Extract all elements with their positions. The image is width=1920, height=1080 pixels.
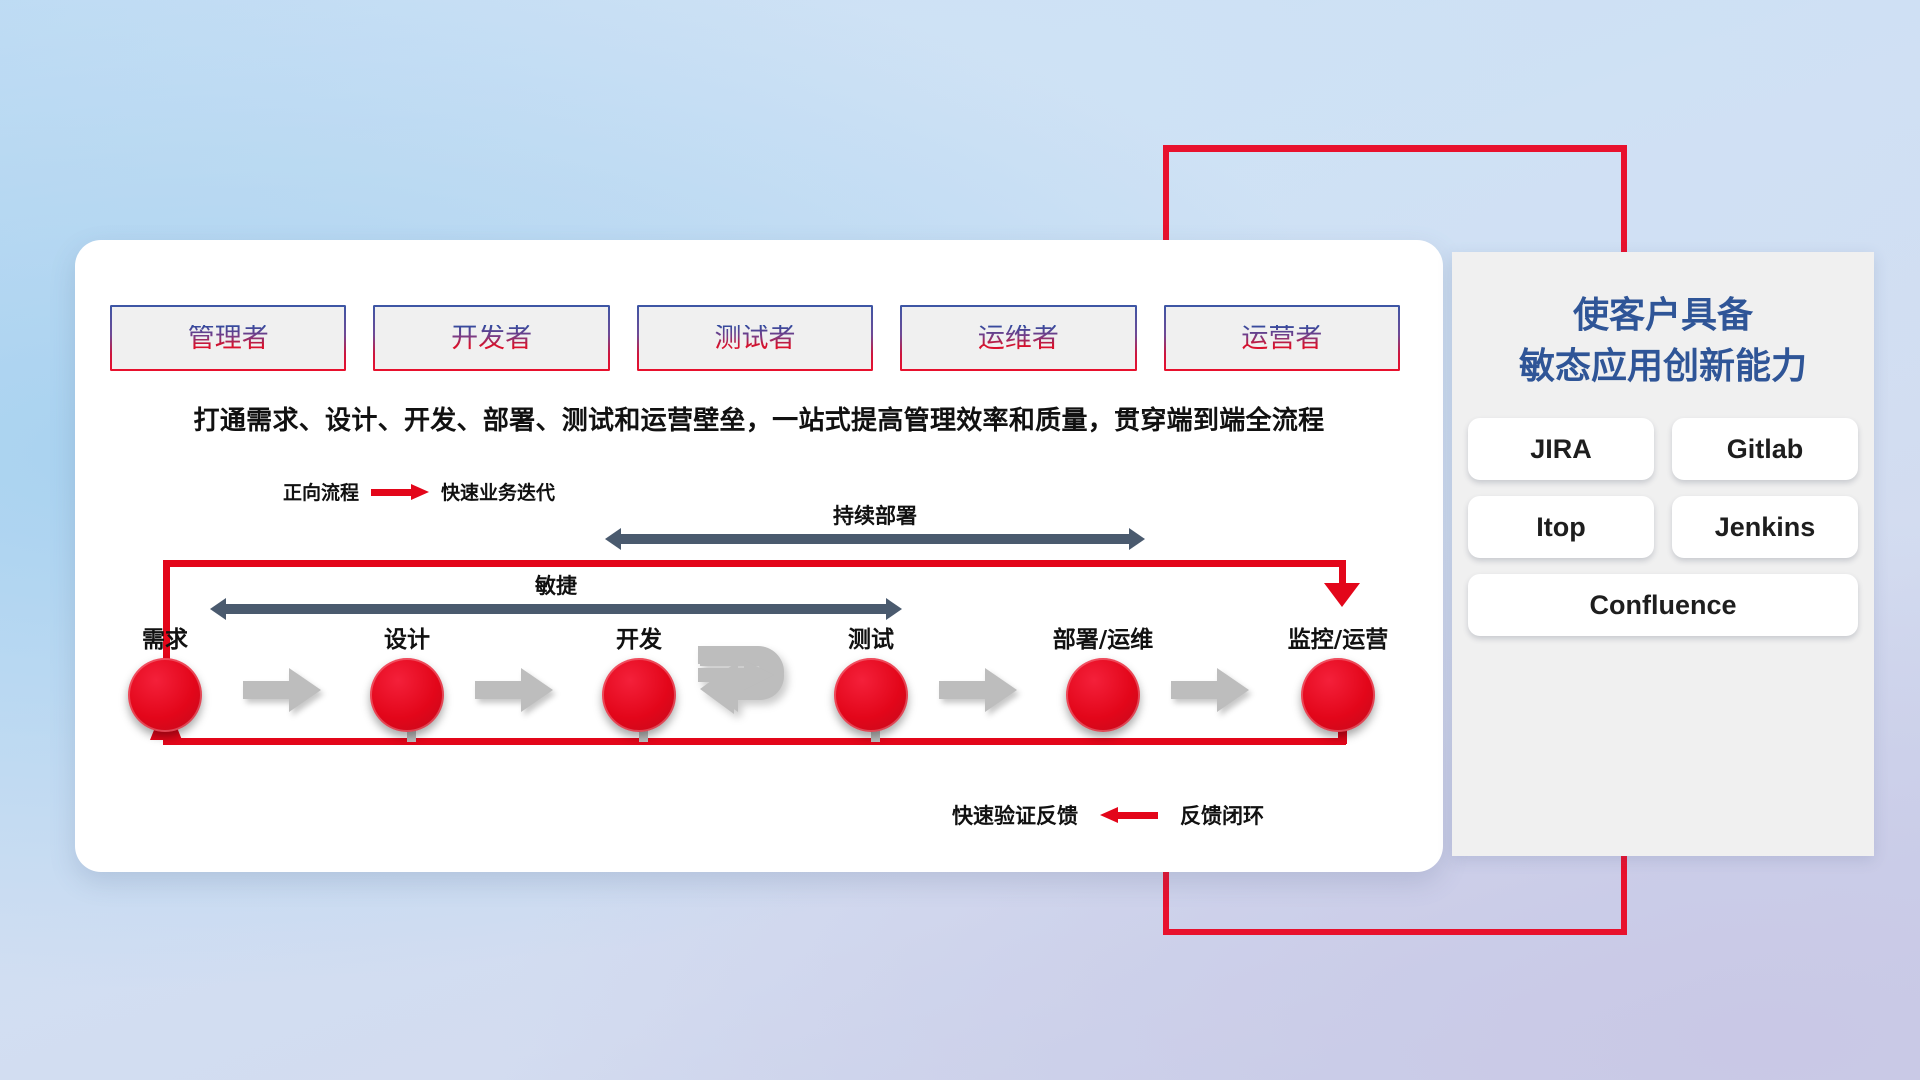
pipeline-stage-label: 设计 [352,620,462,654]
pipeline-stage-5[interactable]: 监控/运营 [1283,620,1393,732]
pipeline-stage-1[interactable]: 设计 [352,620,462,732]
role-label: 运维者 [978,325,1059,352]
pipeline-stage-label: 监控/运营 [1283,620,1393,654]
role-label: 测试者 [715,325,796,352]
arrow-right-gray-icon [1171,668,1249,712]
arrow-right-gray-icon [243,668,321,712]
agile-arrow [210,598,902,620]
pipeline-stage-2[interactable]: 开发 [584,620,694,732]
pipeline-stage-0[interactable]: 需求 [110,620,220,732]
role-box-4[interactable]: 运营者 [1164,305,1400,371]
pipeline-stage-3[interactable]: 测试 [816,620,926,732]
pipeline-stage-dot [1301,658,1375,732]
tool-tag-itop[interactable]: Itop [1468,496,1654,558]
panel-title-line2: 敏态应用创新能力 [1466,341,1860,392]
forward-flow-legend: 正向流程 快速业务迭代 [283,478,555,505]
red-loop-arrow-down-icon [1324,583,1360,607]
panel-title: 使客户具备 敏态应用创新能力 [1452,252,1874,392]
role-label: 运营者 [1241,325,1322,352]
role-box-0[interactable]: 管理者 [110,305,346,371]
pipeline-stage-label: 部署/运维 [1048,620,1158,654]
continuous-deployment-arrow [605,528,1145,550]
role-box-3[interactable]: 运维者 [900,305,1136,371]
continuous-deployment-label: 持续部署 [605,500,1145,530]
feedback-loop-legend: 快速验证反馈 反馈闭环 [952,800,1264,830]
role-box-row: 管理者 开发者 测试者 运维者 运营者 [110,305,1400,371]
tool-tag-jenkins[interactable]: Jenkins [1672,496,1858,558]
outcome-panel: 使客户具备 敏态应用创新能力 JIRA Gitlab Itop Jenkins … [1452,252,1874,856]
feedback-right-label: 反馈闭环 [1180,800,1264,830]
feedback-left-label: 快速验证反馈 [952,800,1078,830]
tool-tag-jira[interactable]: JIRA [1468,418,1654,480]
panel-title-line1: 使客户具备 [1466,290,1860,341]
pipeline-stage-4[interactable]: 部署/运维 [1048,620,1158,732]
role-box-2[interactable]: 测试者 [637,305,873,371]
forward-flow-right-label: 快速业务迭代 [441,478,555,505]
pipeline-stage-dot [602,658,676,732]
role-label: 管理者 [188,325,269,352]
arrow-right-red-icon [371,484,429,500]
arrow-left-red-icon [1100,807,1158,823]
pipeline-stage-label: 测试 [816,620,926,654]
agile-label: 敏捷 [210,570,902,600]
arrow-right-gray-icon [939,668,1017,712]
loop-back-arrow-icon [698,642,804,734]
pipeline-stage-dot [1066,658,1140,732]
tagline-text: 打通需求、设计、开发、部署、测试和运营壁垒，一站式提高管理效率和质量，贯穿端到端… [75,400,1443,437]
pipeline-stage-label: 需求 [110,620,220,654]
pipeline-stage-label: 开发 [584,620,694,654]
role-box-1[interactable]: 开发者 [373,305,609,371]
tool-tag-confluence[interactable]: Confluence [1468,574,1858,636]
tool-tag-gitlab[interactable]: Gitlab [1672,418,1858,480]
role-label: 开发者 [451,325,532,352]
pipeline-stage-dot [128,658,202,732]
pipeline-stage-dot [834,658,908,732]
pipeline-row: 需求 设计 开发 测试 部署/运维 监控/运营 [110,620,1400,750]
tool-tag-list: JIRA Gitlab Itop Jenkins Confluence [1468,418,1858,636]
red-loop-top [163,560,1346,567]
arrow-right-gray-icon [475,668,553,712]
red-loop-right [1339,560,1346,585]
forward-flow-left-label: 正向流程 [283,478,359,505]
pipeline-stage-dot [370,658,444,732]
